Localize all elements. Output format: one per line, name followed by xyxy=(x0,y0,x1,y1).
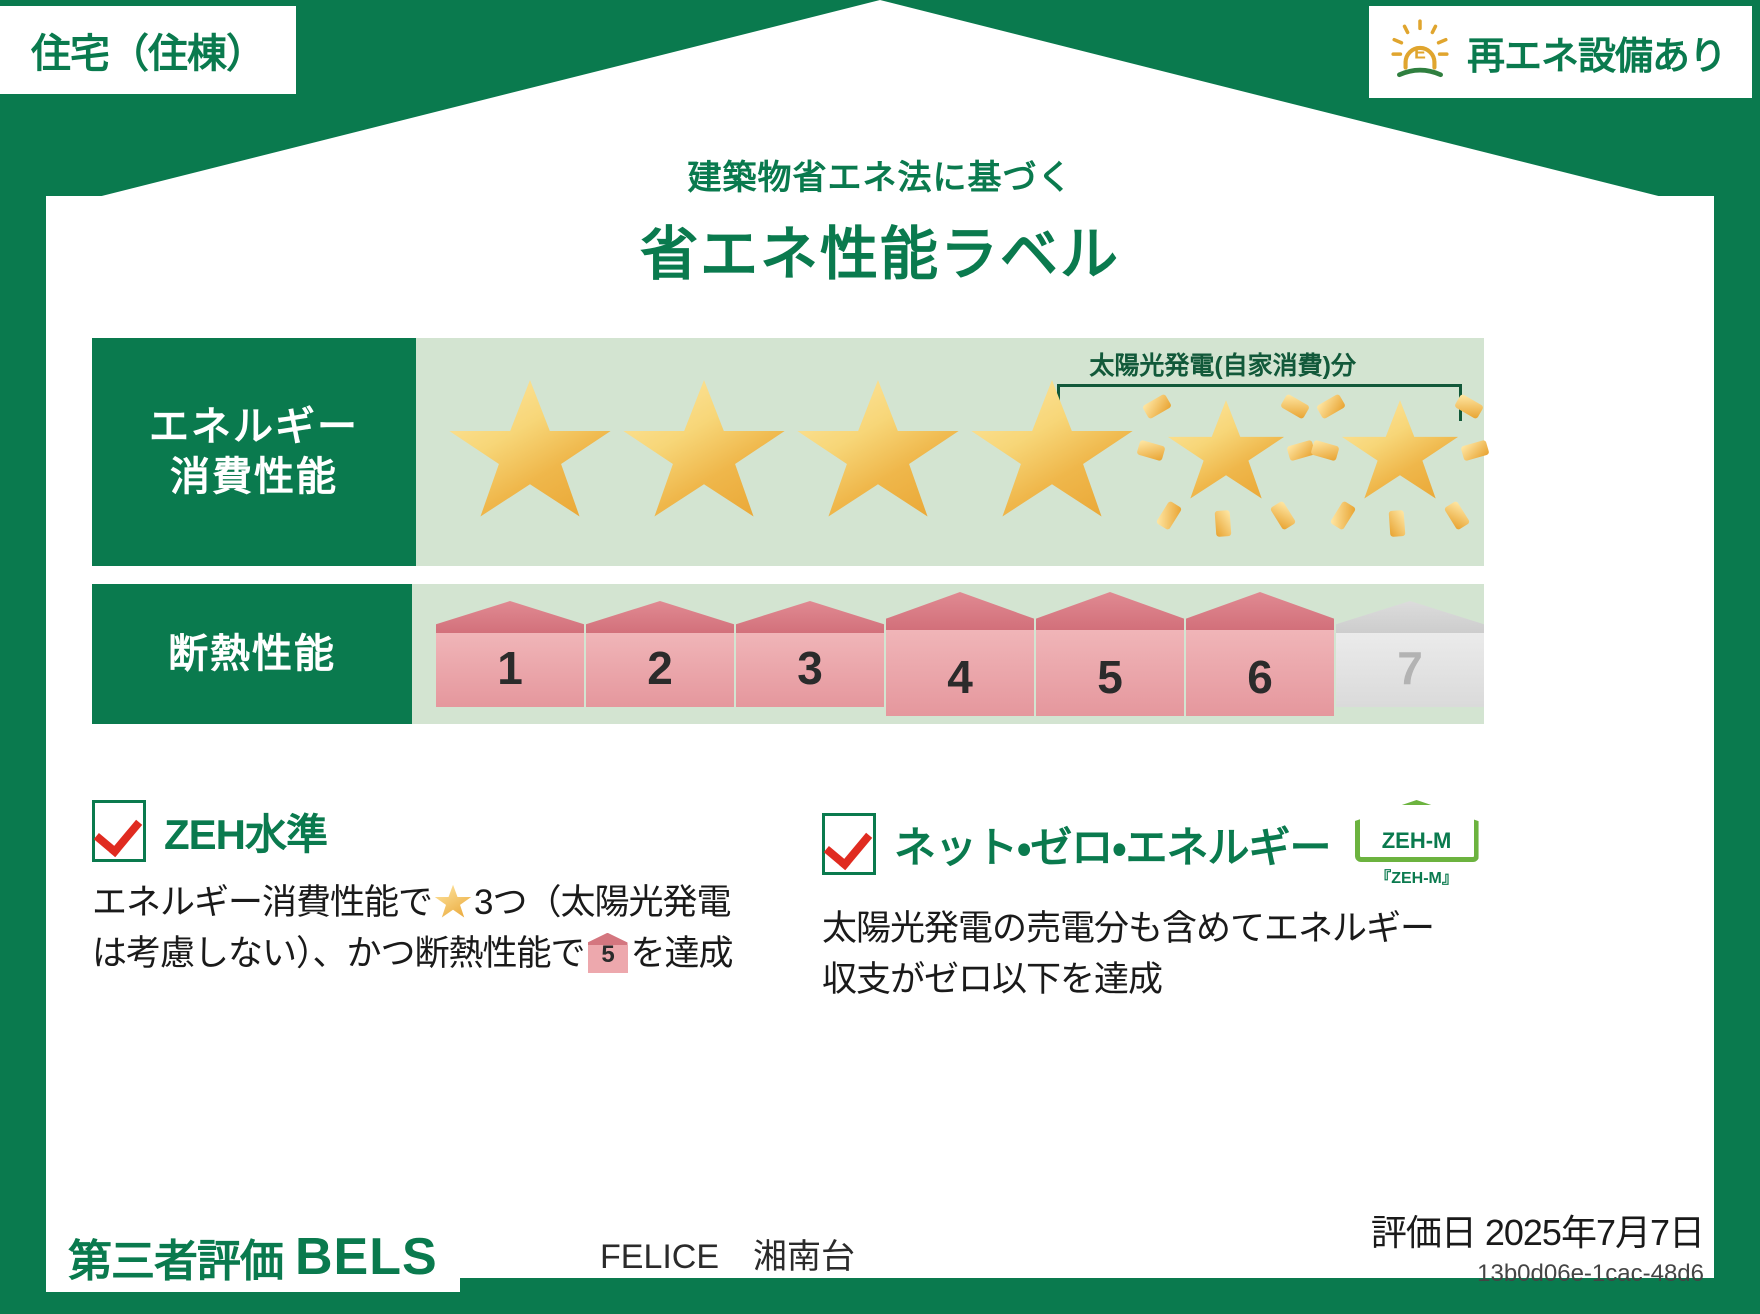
zeh-m-house-icon: ZEH-M xyxy=(1355,800,1479,862)
bels-en-label: BELS xyxy=(295,1227,438,1287)
checkmark-icon xyxy=(822,813,876,875)
badge-renewable-label: 再エネ設備あり xyxy=(1467,25,1726,80)
energy-label-line2: 消費性能 xyxy=(170,452,338,502)
insulation-level-number: 5 xyxy=(1097,650,1123,716)
evaluation-info: 評価日 2025年7月7日 13b0d06e-1cac-48d6 xyxy=(1371,1204,1704,1288)
insulation-performance-row: 断熱性能 1 2 3 4 xyxy=(92,584,1484,724)
star-6-solar xyxy=(1316,377,1484,527)
zeh-m-logo-sub: 『ZEH-M』 xyxy=(1375,864,1458,888)
svg-text:E: E xyxy=(1414,42,1426,62)
badge-renewable: E 再エネ設備あり xyxy=(1369,6,1752,98)
insulation-level-3: 3 xyxy=(736,601,884,707)
desc-part-3: を達成 xyxy=(631,934,733,973)
house-level-icon: 5 xyxy=(588,933,628,973)
certification-checks: ZEH水準 エネルギー消費性能で3つ（太陽光発電は考慮しない）、かつ断熱性能で5… xyxy=(92,800,1492,1006)
star-icon xyxy=(434,884,472,920)
insulation-level-7: 7 xyxy=(1336,601,1484,707)
nze-desc-line-1: 太陽光発電の売電分も含めてエネルギー xyxy=(822,904,1492,955)
evaluation-id: 13b0d06e-1cac-48d6 xyxy=(1371,1260,1704,1288)
zeh-m-logo-label: ZEH-M xyxy=(1355,828,1479,854)
footer: 第三者評価 BELS FELICE 湘南台 評価日 2025年7月7日 13b0… xyxy=(0,1204,1760,1314)
star-3 xyxy=(794,377,962,527)
evaluation-date: 評価日 2025年7月7日 xyxy=(1371,1204,1704,1256)
insulation-scale: 1 2 3 4 5 xyxy=(412,584,1484,724)
insulation-level-2: 2 xyxy=(586,601,734,707)
badge-house-type: 住宅（住棟） xyxy=(0,6,296,94)
check-zeh-standard: ZEH水準 エネルギー消費性能で3つ（太陽光発電は考慮しない）、かつ断熱性能で5… xyxy=(92,800,762,1006)
bels-jp-label: 第三者評価 xyxy=(68,1225,283,1289)
insulation-level-number: 4 xyxy=(947,650,973,716)
desc-part-2: は考慮しない）、かつ断熱性能で xyxy=(92,934,585,973)
star-1 xyxy=(446,377,614,527)
insulation-level-4: 4 xyxy=(886,592,1034,716)
energy-performance-row: エネルギー 消費性能 太陽光発電(自家消費)分 xyxy=(92,338,1484,566)
star-2 xyxy=(620,377,788,527)
insulation-level-number: 7 xyxy=(1397,641,1423,707)
star-4 xyxy=(968,377,1136,527)
house-level-number: 5 xyxy=(588,933,628,973)
check-zeh-description: エネルギー消費性能で3つ（太陽光発電は考慮しない）、かつ断熱性能で5を達成 xyxy=(92,878,762,980)
desc-star-count: 3つ（太陽光発電 xyxy=(474,883,730,922)
check-nze-title: ネット・ゼロ・エネルギー xyxy=(894,814,1331,875)
star-5-solar xyxy=(1142,377,1310,527)
insulation-level-6: 6 xyxy=(1186,592,1334,716)
insulation-level-5: 5 xyxy=(1036,592,1184,716)
insulation-level-number: 6 xyxy=(1247,650,1273,716)
badge-house-type-label: 住宅（住棟） xyxy=(31,21,265,79)
check-nze-header: ネット・ゼロ・エネルギー ZEH-M 『ZEH-M』 xyxy=(822,800,1492,888)
energy-performance-label: エネルギー 消費性能 xyxy=(92,338,416,566)
insulation-performance-panel: 1 2 3 4 5 xyxy=(412,584,1484,724)
check-net-zero-energy: ネット・ゼロ・エネルギー ZEH-M 『ZEH-M』 太陽光発電の売電分も含めて… xyxy=(822,800,1492,1006)
checkmark-icon xyxy=(92,800,146,862)
rating-rows: エネルギー 消費性能 太陽光発電(自家消費)分 xyxy=(92,338,1484,742)
insulation-level-1: 1 xyxy=(436,601,584,707)
bels-badge: 第三者評価 BELS xyxy=(46,1222,460,1292)
energy-performance-panel: 太陽光発電(自家消費)分 xyxy=(416,338,1484,566)
insulation-level-number: 1 xyxy=(497,641,523,707)
check-nze-description: 太陽光発電の売電分も含めてエネルギー 収支がゼロ以下を達成 xyxy=(822,904,1492,1006)
header: 建築物省エネ法に基づく 省エネ性能ラベル xyxy=(0,150,1760,291)
insulation-performance-label: 断熱性能 xyxy=(92,584,412,724)
check-zeh-header: ZEH水準 xyxy=(92,800,762,862)
zeh-m-logo: ZEH-M 『ZEH-M』 xyxy=(1355,800,1479,888)
building-name: FELICE 湘南台 xyxy=(600,1229,855,1278)
desc-part-1: エネルギー消費性能で xyxy=(92,883,432,922)
check-zeh-title: ZEH水準 xyxy=(164,801,327,862)
header-subtitle: 建築物省エネ法に基づく xyxy=(0,150,1760,199)
solar-sun-icon: E xyxy=(1387,17,1453,88)
insulation-label-text: 断熱性能 xyxy=(168,629,336,679)
nze-desc-line-2: 収支がゼロ以下を達成 xyxy=(822,955,1492,1006)
insulation-level-number: 2 xyxy=(647,641,673,707)
energy-label-line1: エネルギー xyxy=(149,402,359,452)
page-title: 省エネ性能ラベル xyxy=(0,207,1760,291)
insulation-level-number: 3 xyxy=(797,641,823,707)
